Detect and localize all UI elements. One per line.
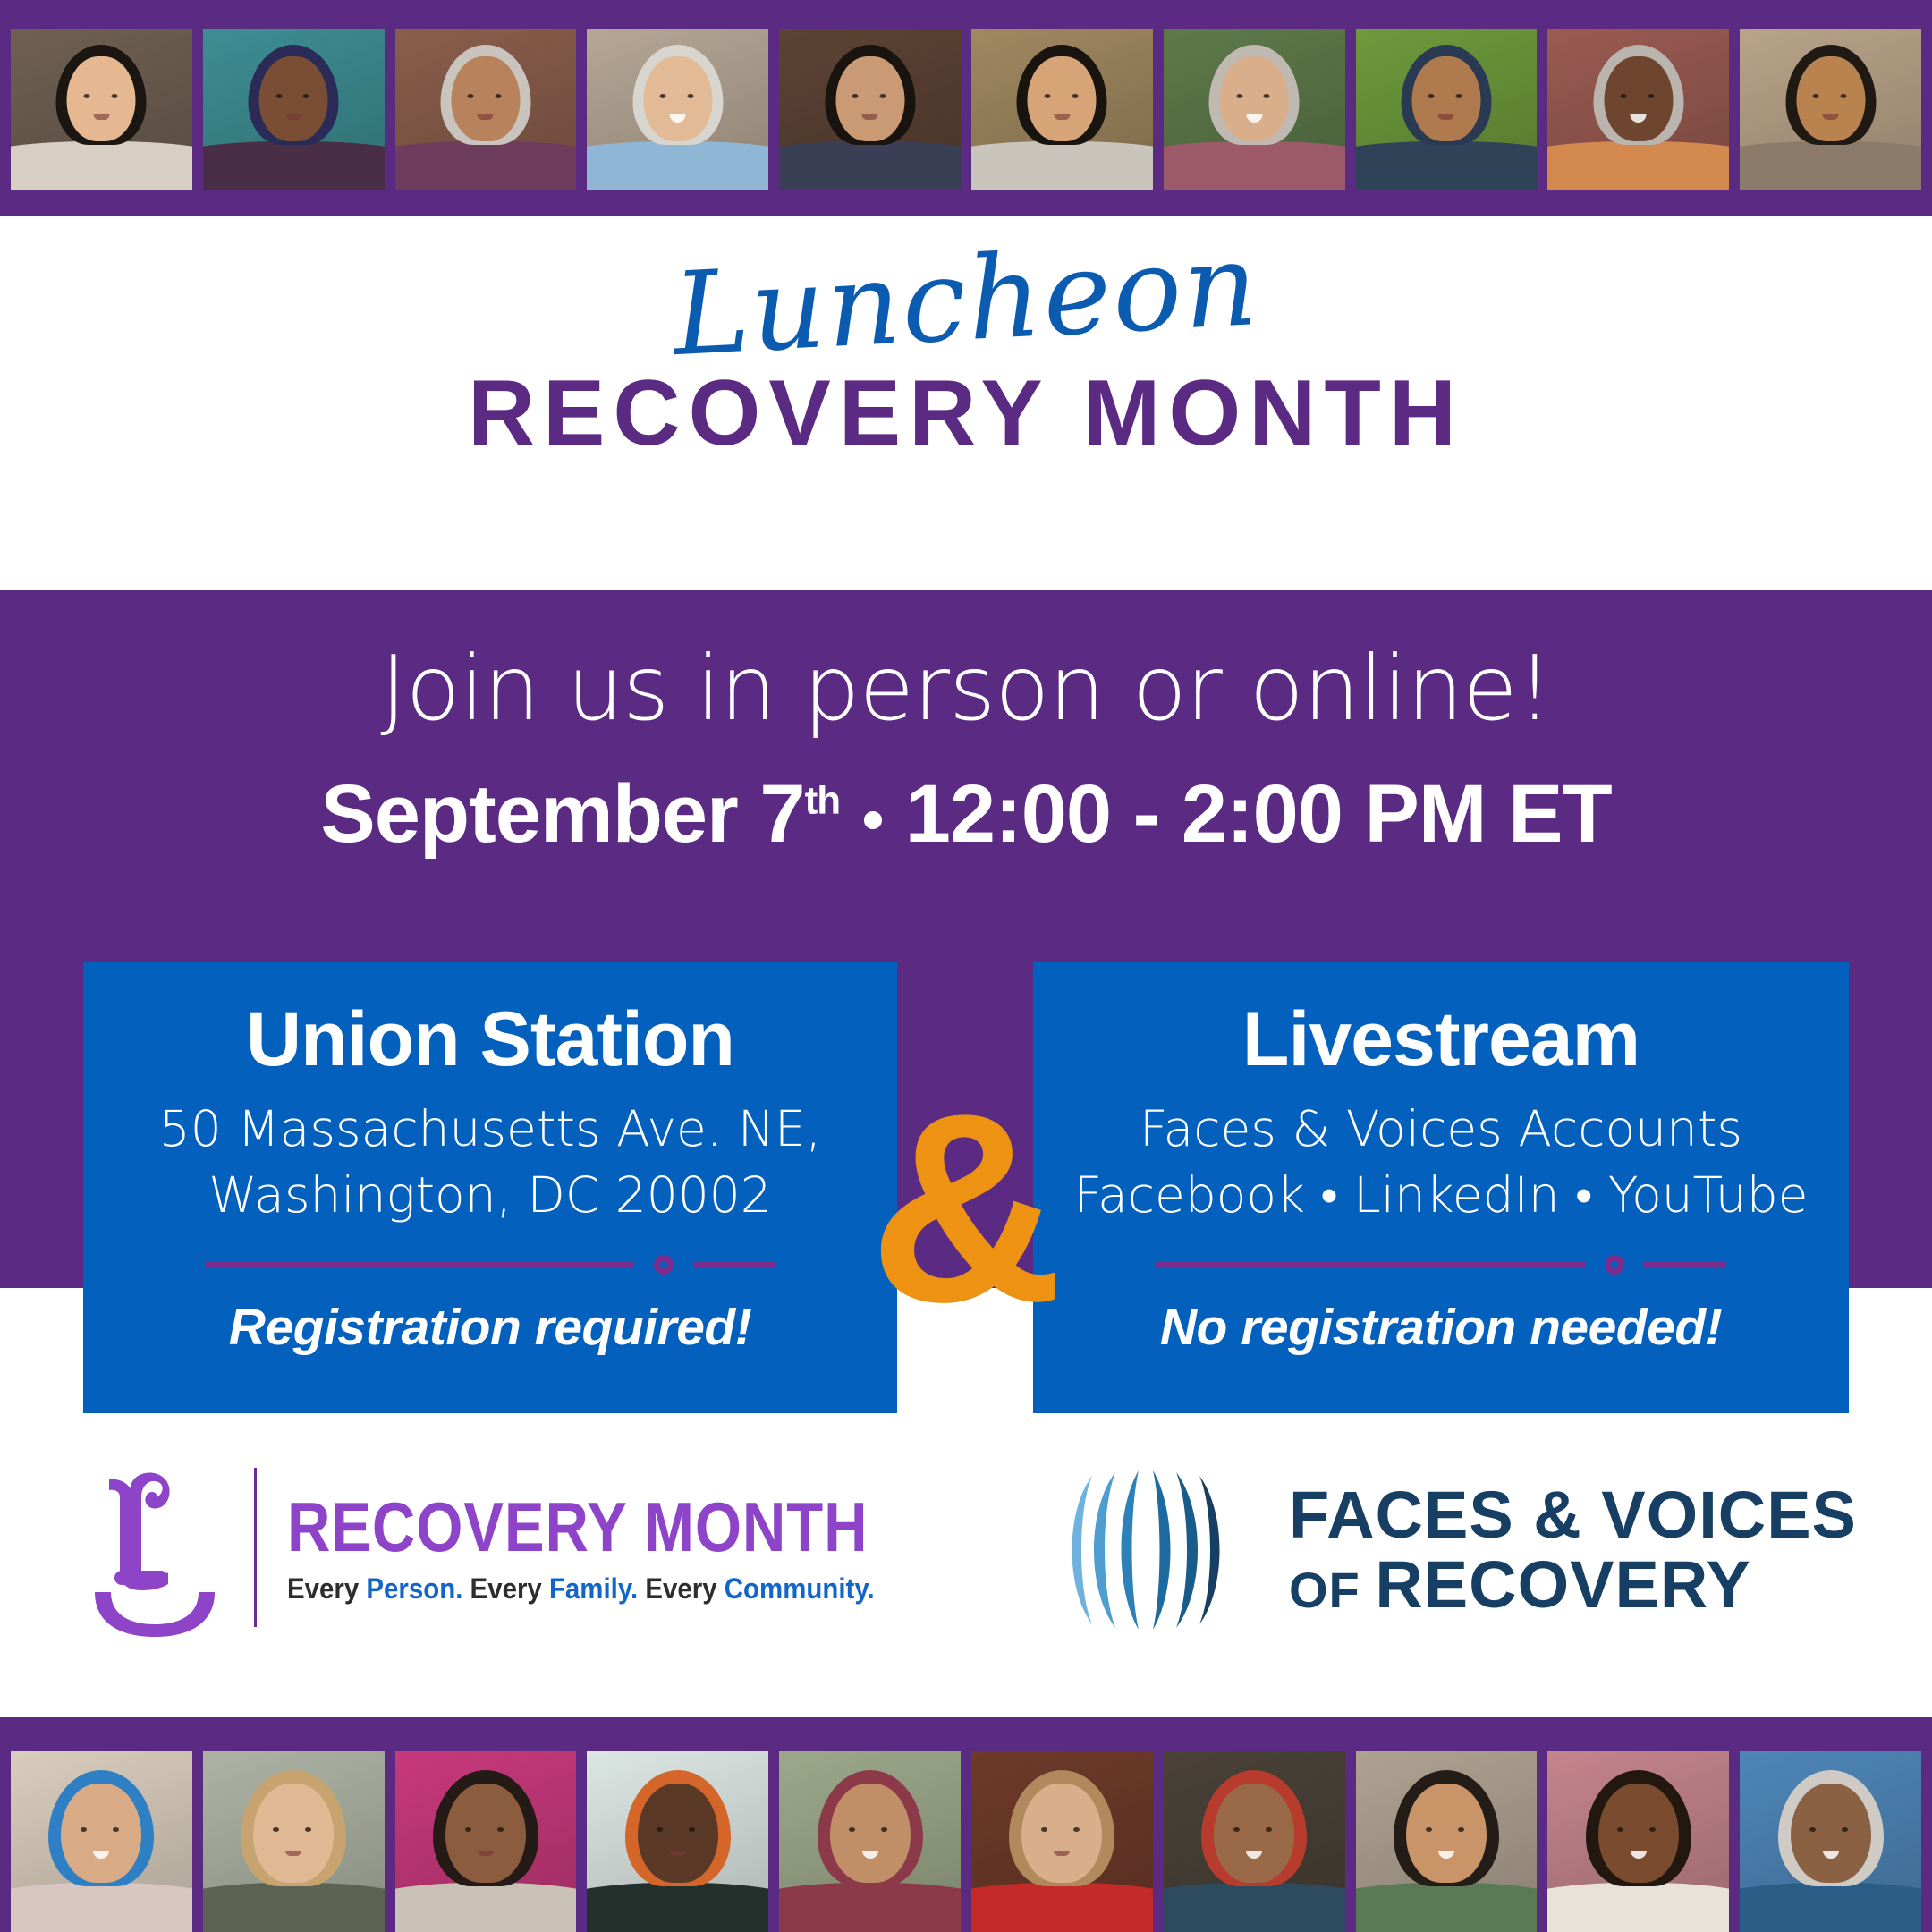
portrait-shoulders: [1547, 1883, 1729, 1932]
livestream-card[interactable]: Livestream Faces & Voices Accounts Faceb…: [1033, 962, 1849, 1413]
logo-row: RECOVERY MONTH Every Person. Every Famil…: [0, 1449, 1932, 1708]
portrait-face: [1411, 56, 1480, 141]
banner-time: 12:00 - 2:00 PM ET: [905, 768, 1612, 860]
top-portrait-strip: [0, 0, 1932, 216]
recovery-month-wordmark: RECOVERY MONTH: [287, 1492, 868, 1562]
divider-bar-left: [1156, 1262, 1585, 1268]
portrait-face: [1214, 1784, 1294, 1883]
portrait-eye: [1649, 1827, 1656, 1832]
portrait-eye: [83, 94, 89, 98]
portrait-tile: [203, 29, 385, 190]
portrait-tile: [971, 29, 1153, 190]
portrait-eye: [1044, 94, 1050, 98]
portrait-face: [1021, 1784, 1102, 1883]
portrait-mouth: [1246, 114, 1262, 123]
livestream-platforms-line: Facebook • LinkedIn • YouTube: [1033, 1163, 1849, 1229]
portrait-eye: [688, 94, 694, 98]
venue-card-address-line2: Washington, DC 20002: [83, 1163, 897, 1229]
venue-card-union-station[interactable]: Union Station 50 Massachusetts Ave. NE, …: [83, 962, 897, 1413]
ampersand-icon: &: [859, 1073, 1073, 1342]
portrait-eye: [879, 94, 885, 98]
portrait-face: [643, 56, 712, 141]
portrait-eye: [305, 1827, 311, 1832]
portrait-face: [638, 1784, 718, 1883]
banner-headline: Join us in person or online!: [0, 640, 1932, 738]
portrait-mouth: [285, 1851, 301, 1856]
portrait-shoulders: [1164, 141, 1345, 190]
recovery-month-logo[interactable]: RECOVERY MONTH Every Person. Every Famil…: [79, 1458, 962, 1637]
portrait-eye: [80, 1827, 87, 1832]
portrait-eye: [1264, 94, 1270, 98]
portrait-face: [830, 1784, 911, 1883]
faces-voices-wordmark-line2: OF RECOVERY: [1289, 1550, 1857, 1620]
portrait-tile: [1547, 29, 1729, 190]
venue-card-title: Union Station: [83, 996, 897, 1084]
portrait-tile: [395, 1751, 577, 1932]
portrait-tile: [1164, 1751, 1345, 1932]
portrait-face: [67, 56, 136, 141]
portrait-face: [61, 1784, 141, 1883]
portrait-eye: [1648, 94, 1655, 98]
portrait-tile: [1356, 29, 1538, 190]
portrait-eye: [849, 1827, 855, 1832]
portrait-face: [1406, 1784, 1487, 1883]
portrait-eye: [657, 1827, 663, 1832]
portrait-eye: [1813, 94, 1819, 98]
portrait-eye: [1840, 94, 1846, 98]
portrait-eye: [1073, 1827, 1080, 1832]
portrait-face: [1604, 56, 1673, 141]
portrait-mouth: [1054, 1851, 1070, 1856]
portrait-shoulders: [1547, 141, 1729, 190]
portrait-mouth: [1823, 1851, 1839, 1859]
portrait-mouth: [1631, 1851, 1647, 1859]
portrait-face: [1796, 56, 1865, 141]
portrait-shoulders: [779, 1883, 961, 1932]
portrait-mouth: [478, 1851, 494, 1856]
portrait-eye: [689, 1827, 695, 1832]
venue-card-address-line1: 50 Massachusetts Ave. NE,: [83, 1097, 897, 1163]
portrait-tile: [779, 29, 961, 190]
portrait-tile: [11, 1751, 192, 1932]
portrait-eye: [1617, 1827, 1623, 1832]
divider-bar-right: [1644, 1262, 1726, 1268]
faces-voices-wordmark-line1: FACES & VOICES: [1289, 1480, 1857, 1550]
portrait-mouth: [1054, 114, 1070, 120]
portrait-face: [1791, 1784, 1871, 1883]
portrait-shoulders: [203, 1883, 385, 1932]
portrait-eye: [273, 1827, 279, 1832]
venue-card-note: Registration required!: [83, 1298, 897, 1357]
portrait-shoulders: [971, 141, 1153, 190]
banner-date-time: September 7th • 12:00 - 2:00 PM ET: [0, 769, 1932, 860]
livestream-card-title: Livestream: [1033, 996, 1849, 1084]
portrait-eye: [1809, 1827, 1816, 1832]
portrait-eye: [465, 1827, 471, 1832]
livestream-accounts-line: Faces & Voices Accounts: [1033, 1097, 1849, 1163]
portrait-shoulders: [587, 141, 768, 190]
faces-voices-globe-mark-icon: [1042, 1465, 1248, 1635]
portrait-mouth: [670, 1851, 686, 1856]
portrait-eye: [1428, 94, 1435, 98]
portrait-mouth: [1823, 114, 1839, 120]
portrait-face: [253, 1784, 334, 1883]
divider-bar-right: [693, 1262, 775, 1268]
portrait-tile: [779, 1751, 961, 1932]
portrait-eye: [1426, 1827, 1432, 1832]
portrait-eye: [852, 94, 859, 98]
portrait-shoulders: [1164, 1883, 1345, 1932]
portrait-shoulders: [779, 141, 961, 190]
banner-date-ordinal: th: [805, 778, 841, 822]
portrait-mouth: [862, 1851, 878, 1859]
portrait-tile: [1740, 1751, 1921, 1932]
tagline-part: Every: [638, 1572, 724, 1605]
portrait-eye: [1456, 94, 1462, 98]
portrait-eye: [660, 94, 666, 98]
portrait-eye: [881, 1827, 887, 1832]
livestream-card-divider: [1156, 1255, 1726, 1275]
portrait-face: [451, 56, 520, 141]
portrait-eye: [113, 1827, 119, 1832]
tagline-part: Community.: [724, 1572, 875, 1605]
portrait-eye: [1621, 94, 1627, 98]
portrait-shoulders: [1740, 1883, 1921, 1932]
portrait-eye: [1266, 1827, 1272, 1832]
divider-ring-icon: [654, 1255, 674, 1275]
portrait-eye: [1842, 1827, 1848, 1832]
portrait-mouth: [1631, 114, 1647, 123]
banner-separator-dot: •: [862, 784, 884, 854]
portrait-shoulders: [11, 1883, 192, 1932]
portrait-mouth: [93, 1851, 109, 1859]
faces-voices-of: OF: [1289, 1562, 1375, 1618]
portrait-eye: [1041, 1827, 1047, 1832]
portrait-eye: [1236, 94, 1242, 98]
portrait-eye: [275, 94, 282, 98]
portrait-shoulders: [395, 141, 577, 190]
portrait-face: [259, 56, 328, 141]
portrait-eye: [111, 94, 117, 98]
portrait-tile: [1356, 1751, 1538, 1932]
portrait-mouth: [285, 114, 301, 120]
portrait-shoulders: [395, 1883, 577, 1932]
portrait-shoulders: [587, 1883, 768, 1932]
portrait-eye: [497, 1827, 504, 1832]
portrait-tile: [971, 1751, 1153, 1932]
portrait-shoulders: [971, 1883, 1153, 1932]
tagline-part: Family.: [549, 1572, 638, 1605]
portrait-mouth: [478, 114, 494, 120]
portrait-tile: [203, 1751, 385, 1932]
tagline-part: Every: [287, 1572, 366, 1605]
portrait-tile: [587, 29, 768, 190]
portrait-face: [1220, 56, 1289, 141]
portrait-tile: [1740, 29, 1921, 190]
portrait-face: [1028, 56, 1097, 141]
portrait-eye: [1458, 1827, 1464, 1832]
livestream-card-note: No registration needed!: [1033, 1298, 1849, 1357]
portrait-eye: [303, 94, 309, 98]
tagline-part: Person.: [366, 1572, 462, 1605]
portrait-eye: [1072, 94, 1078, 98]
portrait-shoulders: [1356, 141, 1538, 190]
portrait-mouth: [670, 114, 686, 123]
portrait-tile: [1547, 1751, 1729, 1932]
portrait-shoulders: [1740, 141, 1921, 190]
portrait-shoulders: [203, 141, 385, 190]
portrait-face: [835, 56, 904, 141]
portrait-face: [445, 1784, 526, 1883]
recovery-month-tagline: Every Person. Every Family. Every Commun…: [287, 1574, 909, 1603]
portrait-mouth: [93, 114, 109, 120]
faces-voices-logo[interactable]: FACES & VOICES OF RECOVERY: [1042, 1465, 1857, 1635]
faces-voices-recovery: RECOVERY: [1375, 1547, 1751, 1622]
portrait-mouth: [1246, 1851, 1262, 1859]
divider-ring-icon: [1605, 1255, 1624, 1275]
logo-vertical-rule: [254, 1468, 257, 1627]
portrait-shoulders: [11, 141, 192, 190]
recovery-month-r-mark-icon: [79, 1458, 231, 1637]
portrait-mouth: [1438, 1851, 1454, 1859]
bottom-portrait-strip: [0, 1717, 1932, 1932]
portrait-eye: [1233, 1827, 1240, 1832]
portrait-mouth: [862, 114, 878, 120]
portrait-tile: [395, 29, 577, 190]
tagline-part: Every: [462, 1572, 549, 1605]
portrait-tile: [1164, 29, 1345, 190]
banner-date: September 7: [320, 768, 804, 860]
portrait-eye: [468, 94, 474, 98]
divider-bar-left: [206, 1262, 634, 1268]
portrait-shoulders: [1356, 1883, 1538, 1932]
portrait-face: [1598, 1784, 1679, 1883]
portrait-mouth: [1438, 114, 1454, 120]
portrait-tile: [587, 1751, 768, 1932]
portrait-eye: [496, 94, 502, 98]
venue-card-divider: [206, 1255, 775, 1275]
portrait-tile: [11, 29, 192, 190]
